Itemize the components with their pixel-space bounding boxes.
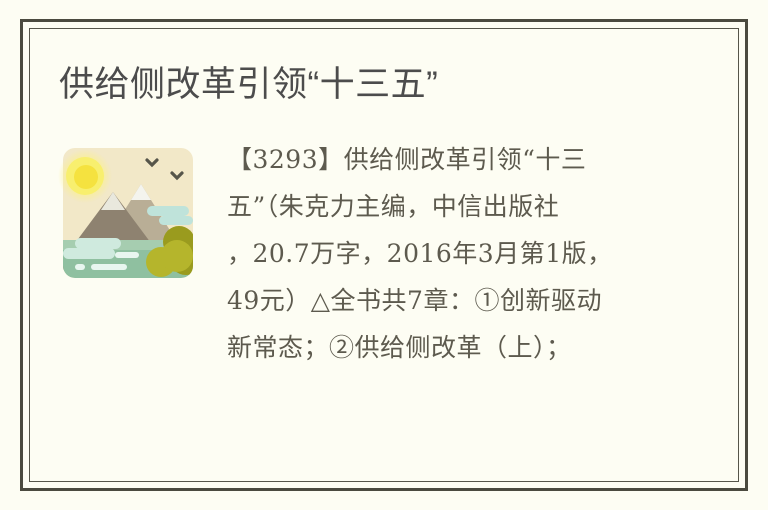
- description-line: 49元）△全书共7章：①创新驱动: [227, 277, 717, 324]
- card-content: 供给侧改革引领“十三五”: [29, 28, 739, 482]
- page-title: 供给侧改革引领“十三五”: [59, 63, 438, 107]
- description-line: 新常态；②供给侧改革（上）；: [227, 324, 717, 371]
- mountain-landscape-thumbnail[interactable]: [55, 140, 201, 286]
- description-line: ，20.7万字，2016年3月第1版，: [227, 230, 717, 277]
- page-root: 供给侧改革引领“十三五”: [0, 0, 768, 510]
- description-line: 五”（朱克力主编，中信出版社: [227, 183, 717, 230]
- book-description-text: 【3293】供给侧改革引领“十三 五”（朱克力主编，中信出版社 ，20.7万字，…: [227, 136, 717, 371]
- description-line: 【3293】供给侧改革引领“十三: [227, 136, 717, 183]
- landscape-illustration: [55, 140, 201, 286]
